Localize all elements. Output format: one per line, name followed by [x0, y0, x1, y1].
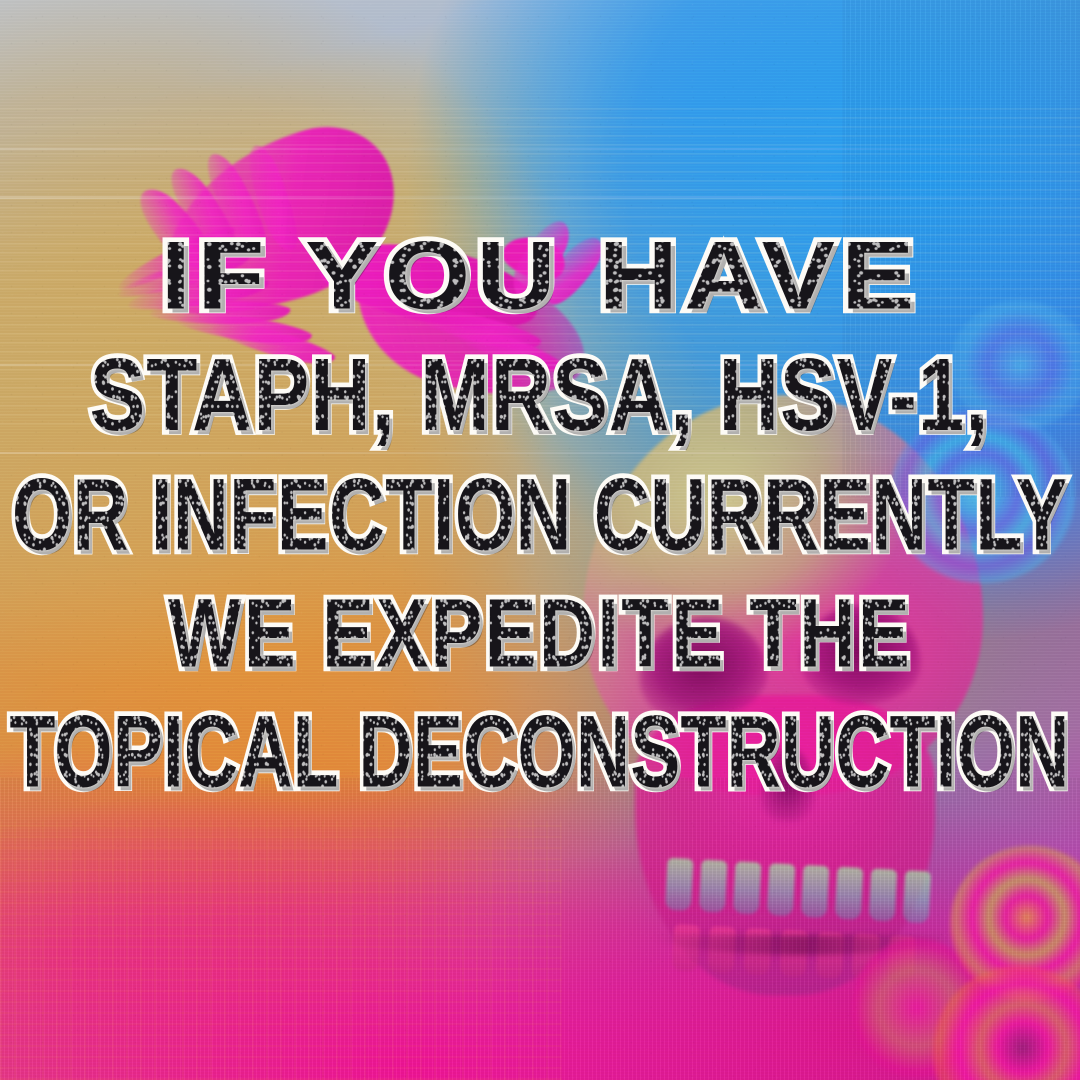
poster-canvas: IF YOU HAVE STAPH, MRSA, HSV-1, OR INFEC…	[0, 0, 1080, 1080]
headline-line-3: OR INFECTION CURRENTLY	[12, 465, 1068, 567]
headline-line-2: STAPH, MRSA, HSV-1,	[90, 344, 990, 447]
headline-line-4: WE EXPEDITE THE	[168, 585, 912, 683]
headline-block: IF YOU HAVE STAPH, MRSA, HSV-1, OR INFEC…	[0, 0, 1080, 1080]
headline-line-5: TOPICAL DECONSTRUCTION	[10, 702, 1070, 804]
headline-line-1: IF YOU HAVE	[160, 228, 920, 324]
